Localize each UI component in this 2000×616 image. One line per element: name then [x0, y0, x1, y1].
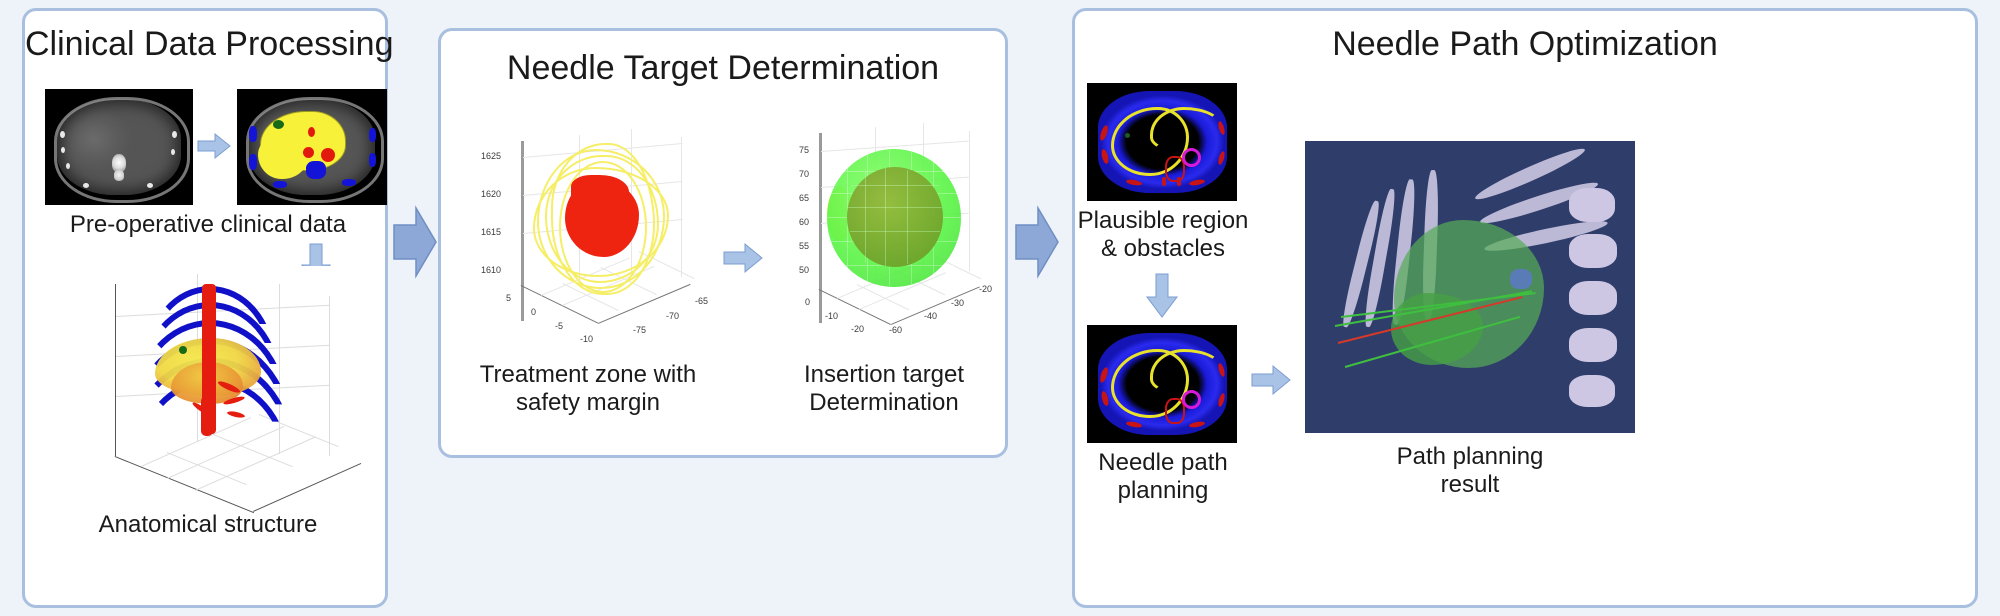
lesion-marker-green	[179, 346, 187, 354]
ct-bright-spot	[60, 131, 65, 138]
ct-slice-raw-image	[45, 89, 193, 205]
safety-sphere-front	[827, 149, 961, 287]
caption-path-planning-result: Path planning result	[1305, 443, 1635, 500]
target-marker	[1182, 390, 1201, 409]
panel-needle-path-optimization: Needle Path Optimization Plausible regio…	[1072, 8, 1978, 608]
panel-clinical-data-processing: Clinical Data Processing	[22, 8, 388, 608]
flow-arrow-target-to-path	[1014, 205, 1060, 279]
ztick-65: 65	[799, 193, 809, 203]
ztick-50: 50	[799, 265, 809, 275]
arrow-plausible-to-planning	[1145, 273, 1179, 319]
caption-insertion-target: Insertion target Determination	[759, 361, 1009, 418]
xtick-minus5: -5	[555, 321, 563, 331]
xtick-0: 0	[531, 307, 536, 317]
arrow-planning-to-result	[1251, 363, 1291, 397]
plot-gridline	[969, 131, 970, 271]
ztick-70: 70	[799, 169, 809, 179]
plot-z-axis	[115, 284, 116, 456]
caption-needle-path-planning: Needle path planning	[1075, 449, 1251, 506]
vertebra-body	[1569, 375, 1615, 407]
xtick-minus20: -20	[851, 324, 864, 334]
ytick-minus70: -70	[666, 311, 679, 321]
tumor-volume-facet	[571, 175, 629, 209]
vessel-trunk	[201, 396, 213, 436]
anatomical-structure-3d-plot	[67, 266, 367, 516]
ct-bright-spot	[66, 163, 70, 169]
caption-treatment-zone: Treatment zone with safety margin	[453, 361, 723, 418]
vertebra-body	[1569, 234, 1617, 268]
segmentation-bone-blue	[273, 181, 287, 188]
tumor-target	[1510, 269, 1532, 289]
ztick-1615: 1615	[481, 227, 501, 237]
plot-z-axis	[819, 133, 822, 323]
obstacle-spine-leg	[1177, 177, 1181, 186]
plot-gridline	[681, 137, 682, 277]
target-marker	[1182, 148, 1201, 167]
ztick-75: 75	[799, 145, 809, 155]
arrow-ct-to-segmentation	[197, 131, 231, 161]
caption-plausible-region: Plausible region & obstacles	[1075, 207, 1251, 264]
segmentation-bone-blue	[306, 161, 326, 179]
plausible-region-map	[1087, 83, 1237, 201]
plot-z-axis	[521, 141, 524, 321]
plot-gridline	[329, 296, 330, 456]
skin-entry-contour-2	[1150, 349, 1222, 395]
vertebra-body	[1569, 328, 1617, 362]
ztick-60: 60	[799, 217, 809, 227]
vertebra-body	[1569, 281, 1617, 315]
insertion-target-3d-plot: 75 70 65 60 55 50	[771, 121, 1001, 356]
entry-point-marker	[1125, 133, 1130, 138]
segmentation-bone-blue	[369, 153, 376, 167]
ytick-minus65: -65	[695, 296, 708, 306]
panel-path-title: Needle Path Optimization	[1075, 25, 1975, 64]
workflow-diagram: Clinical Data Processing	[0, 0, 2000, 616]
ztick-1620: 1620	[481, 189, 501, 199]
path-planning-result-3d	[1305, 141, 1635, 433]
xtick-minus10: -10	[825, 311, 838, 321]
ct-skin-rim	[54, 97, 190, 203]
skin-entry-contour-2	[1150, 107, 1222, 153]
segmentation-vessel-red	[308, 127, 315, 137]
flow-arrow-clinical-to-target	[392, 205, 438, 279]
needle-path-planning-map	[1087, 325, 1237, 443]
segmentation-bone-blue	[369, 128, 376, 142]
plot-tick-label	[95, 290, 97, 296]
panel-needle-target-determination: Needle Target Determination 1625 1620 16…	[438, 28, 1008, 458]
ytick-minus75: -75	[633, 325, 646, 335]
panel-target-title: Needle Target Determination	[441, 49, 1005, 88]
vertebra-body	[1569, 188, 1615, 222]
ztick-1610: 1610	[481, 265, 501, 275]
ytick-minus30: -30	[951, 298, 964, 308]
ytick-minus60: -60	[889, 325, 902, 335]
ct-slice-segmented-image	[237, 89, 387, 205]
caption-anatomical-structure: Anatomical structure	[25, 511, 391, 539]
xtick-0: 0	[805, 297, 810, 307]
ztick-1625: 1625	[481, 151, 501, 161]
ytick-minus20: -20	[979, 284, 992, 294]
ytick-minus40: -40	[924, 311, 937, 321]
obstacle-spine-leg	[1162, 177, 1166, 186]
xtick-minus10: -10	[580, 334, 593, 344]
segmentation-bone-blue	[249, 126, 257, 142]
segmentation-vessel-red	[303, 147, 314, 158]
xtick-5: 5	[506, 293, 511, 303]
ztick-55: 55	[799, 241, 809, 251]
caption-preoperative-data: Pre-operative clinical data	[25, 211, 391, 239]
segmentation-bone-blue	[249, 154, 257, 170]
plot-x-axis	[115, 456, 254, 513]
panel-clinical-title: Clinical Data Processing	[25, 25, 385, 64]
arrow-zone-to-target	[723, 241, 763, 275]
plot-y-axis	[253, 463, 361, 512]
ct-vertebra-lower	[114, 170, 124, 180]
treatment-zone-3d-plot: 1625 1620 1615 1610	[459, 121, 715, 351]
ct-bright-spot	[171, 149, 175, 155]
